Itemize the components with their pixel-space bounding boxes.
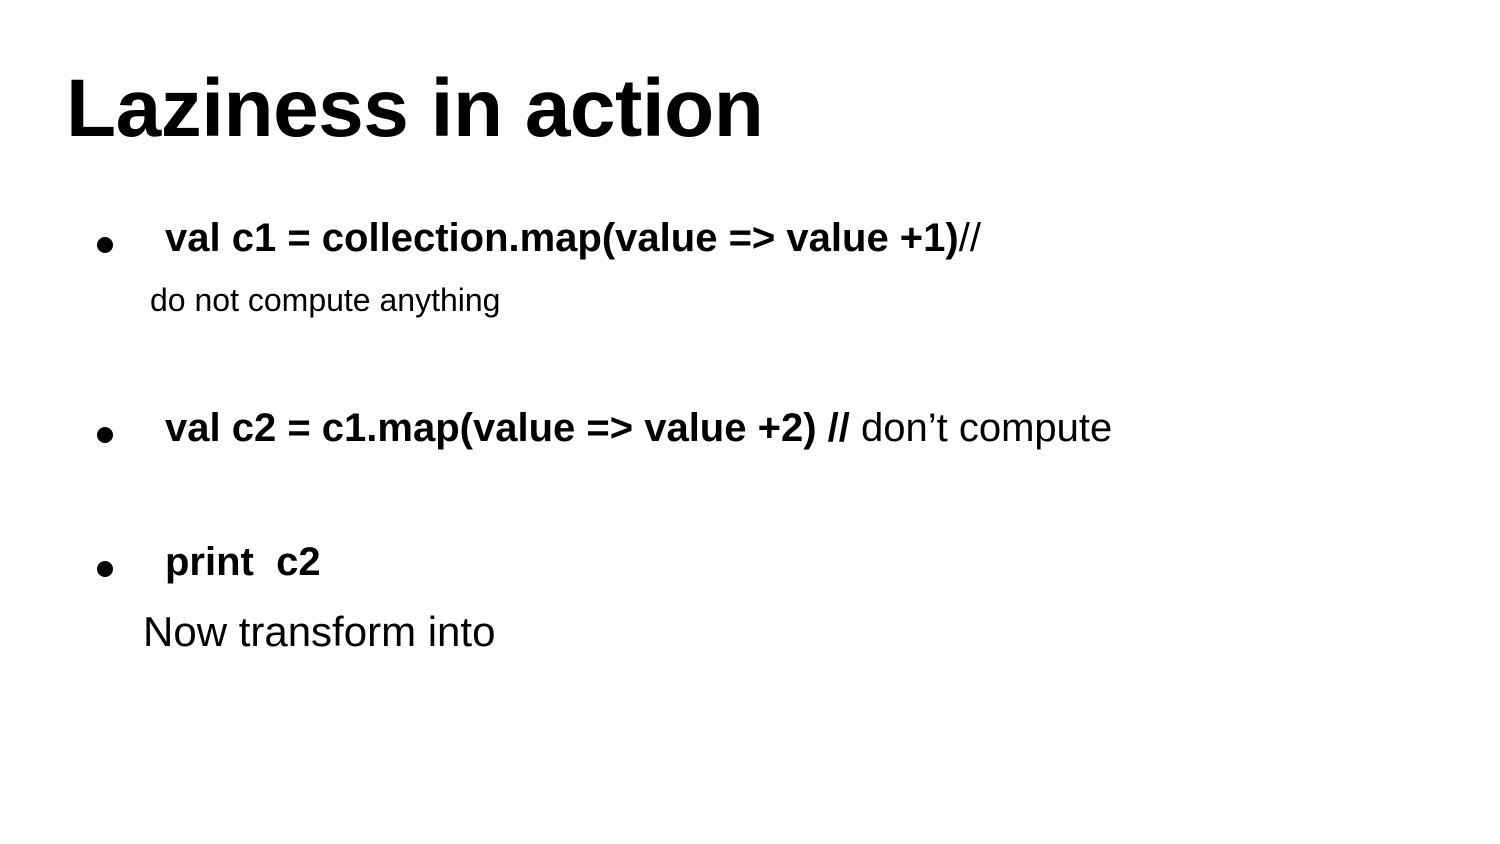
bullet-item-1: val c1 = collection.map(value => value +…	[0, 218, 1500, 316]
bullet-text-1: val c1 = collection.map(value => value +…	[97, 218, 1500, 258]
bullet-subtext-3: Now transform into	[97, 611, 1500, 653]
bullet-code-2: val c2 = c1.map(value => value +2) //	[165, 406, 850, 450]
page-title: Laziness in action	[66, 68, 763, 150]
bullet-code-1: val c1 = collection.map(value => value +…	[165, 216, 959, 260]
slide: Laziness in action val c1 = collection.m…	[0, 0, 1500, 844]
bullet-code-3: print c2	[165, 540, 321, 584]
bullet-dot-icon	[97, 427, 113, 443]
bullet-dot-icon	[97, 561, 113, 577]
bullet-item-2: val c2 = c1.map(value => value +2) // do…	[0, 408, 1500, 448]
bullet-dot-icon	[97, 237, 113, 253]
bullet-comment-1: //	[959, 216, 981, 260]
bullet-item-3: print c2 Now transform into	[0, 542, 1500, 653]
bullet-text-2: val c2 = c1.map(value => value +2) // do…	[97, 408, 1500, 448]
bullet-comment-2: don’t compute	[850, 406, 1112, 450]
bullet-subtext-1: do not compute anything	[97, 284, 1500, 316]
bullet-text-3: print c2	[97, 542, 1500, 582]
slide-body: val c1 = collection.map(value => value +…	[0, 218, 1500, 653]
